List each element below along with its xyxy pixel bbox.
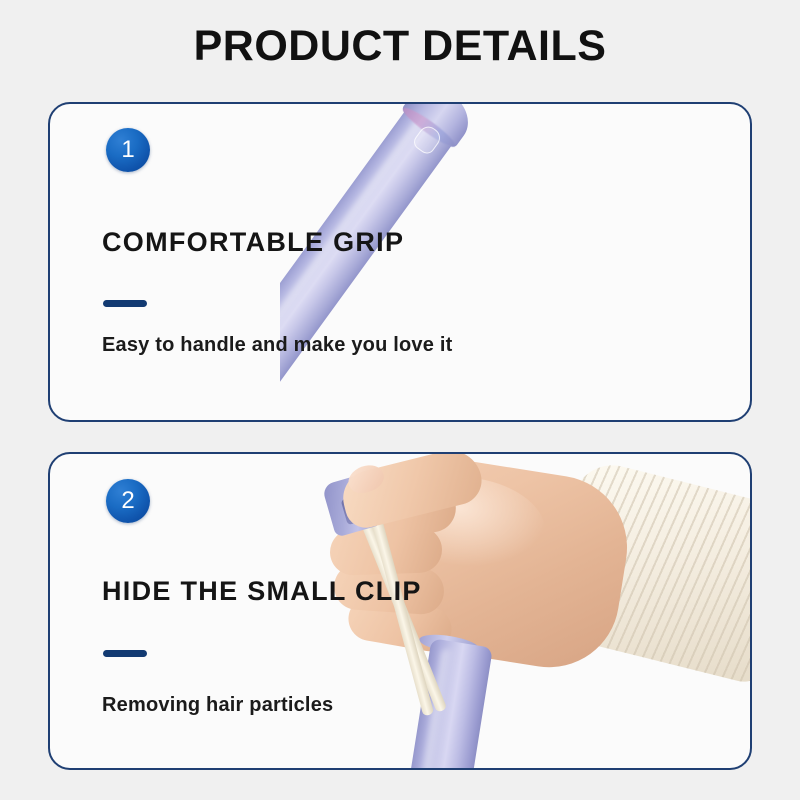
- step-badge-2: 2: [106, 479, 150, 523]
- product-image-hand: [300, 454, 750, 768]
- detail-card-2: 2 HIDE THE SMALL CLIP Removing hair part…: [48, 452, 752, 770]
- card-1-subline: Easy to handle and make you love it: [102, 334, 452, 357]
- product-image-stick: [280, 104, 750, 420]
- card-2-subline: Removing hair particles: [102, 694, 333, 717]
- card-2-headline: HIDE THE SMALL CLIP: [102, 576, 422, 607]
- card-2-inner: 2 HIDE THE SMALL CLIP Removing hair part…: [50, 454, 750, 768]
- product-details-page: PRODUCT DETAILS 1 COMFORTABLE GRIP Easy …: [0, 0, 800, 800]
- detail-card-1: 1 COMFORTABLE GRIP Easy to handle and ma…: [48, 102, 752, 422]
- stick-illustration: [280, 104, 706, 420]
- card-1-divider-dash: [103, 300, 147, 307]
- page-title: PRODUCT DETAILS: [0, 22, 800, 71]
- step-badge-1: 1: [106, 128, 150, 172]
- card-1-headline: COMFORTABLE GRIP: [102, 227, 404, 258]
- card-2-divider-dash: [103, 650, 147, 657]
- card-1-inner: 1 COMFORTABLE GRIP Easy to handle and ma…: [50, 104, 750, 420]
